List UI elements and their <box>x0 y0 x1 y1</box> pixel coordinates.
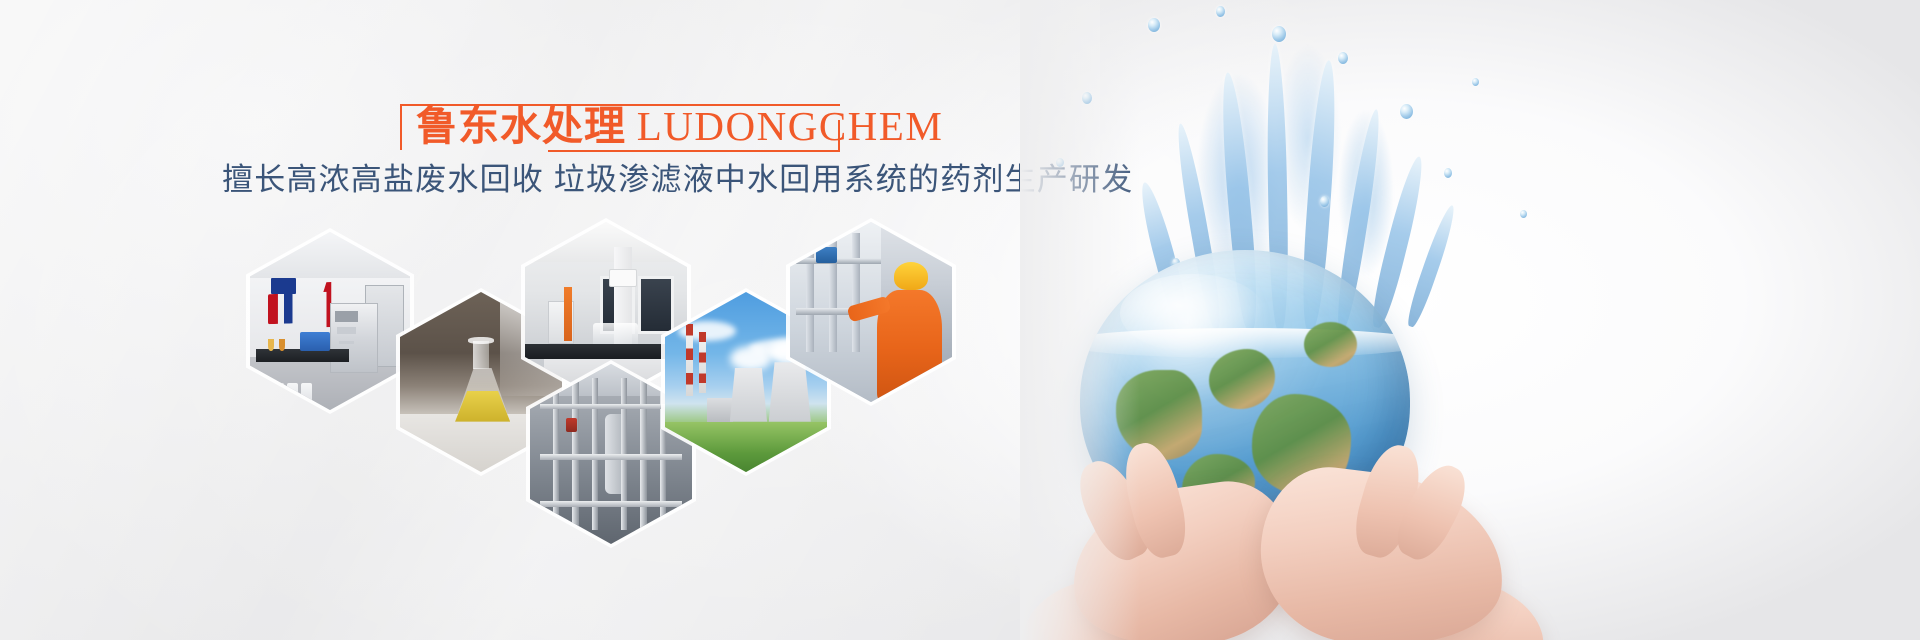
facility-pipe-horizontal-1 <box>796 258 880 264</box>
water-droplet-2 <box>1216 6 1225 17</box>
wall-slogan <box>268 291 340 324</box>
lab-ceiling <box>250 232 410 278</box>
cooling-steam-1 <box>730 346 772 371</box>
water-droplet-6 <box>1444 168 1452 178</box>
water-droplet-10 <box>1320 196 1329 207</box>
hexagon-gallery <box>0 0 1000 640</box>
cooling-tower-1 <box>730 368 767 422</box>
pipe-red-valve <box>566 418 577 432</box>
pipe-horizontal-1 <box>540 404 683 410</box>
landmass-5 <box>1304 322 1357 367</box>
lab-flask-b <box>279 339 285 351</box>
lab3-apparatus <box>609 269 637 287</box>
chimney-stack-2 <box>699 332 706 393</box>
pipe-horizontal-3 <box>540 501 683 507</box>
lab3-ceiling <box>525 222 687 262</box>
artwork-left-fade <box>1020 0 1140 640</box>
cooling-tower-2 <box>769 362 811 421</box>
lab3-window-right <box>638 276 674 334</box>
water-droplet-11 <box>1520 210 1527 218</box>
water-droplet-5 <box>1400 104 1413 119</box>
wall-slogan-top <box>271 278 297 294</box>
flask-neck <box>473 341 489 370</box>
lab-cabinet <box>330 303 378 372</box>
banner-stage: 鲁东水处理 LUDONGCHEM 擅长高浓高盐废水回收 垃圾渗滤液中水回用系统的… <box>0 0 1920 640</box>
plant-building <box>707 398 733 421</box>
water-droplet-9 <box>1472 78 1479 86</box>
hex-tile-laboratory-room[interactable] <box>250 232 410 410</box>
landmass-2 <box>1209 349 1275 409</box>
globe-highlight <box>1120 274 1265 352</box>
worker-helmet-icon <box>894 262 928 291</box>
lab-flask-a <box>268 339 274 351</box>
water-droplet-4 <box>1338 52 1348 64</box>
lab3-orange-stand <box>564 287 572 341</box>
globe-assembly <box>1080 250 1500 580</box>
water-droplet-1 <box>1148 18 1160 32</box>
chimney-stack-1 <box>686 324 693 396</box>
lab-bench <box>256 349 349 361</box>
facility-pipe-3 <box>852 233 860 352</box>
pipe-horizontal-2 <box>540 454 683 460</box>
water-droplet-3 <box>1272 26 1286 42</box>
photo-laboratory-room <box>250 232 410 410</box>
lab-blue-equipment <box>300 332 330 352</box>
water-globe-artwork <box>1020 0 1920 640</box>
flask-lip <box>468 337 494 344</box>
